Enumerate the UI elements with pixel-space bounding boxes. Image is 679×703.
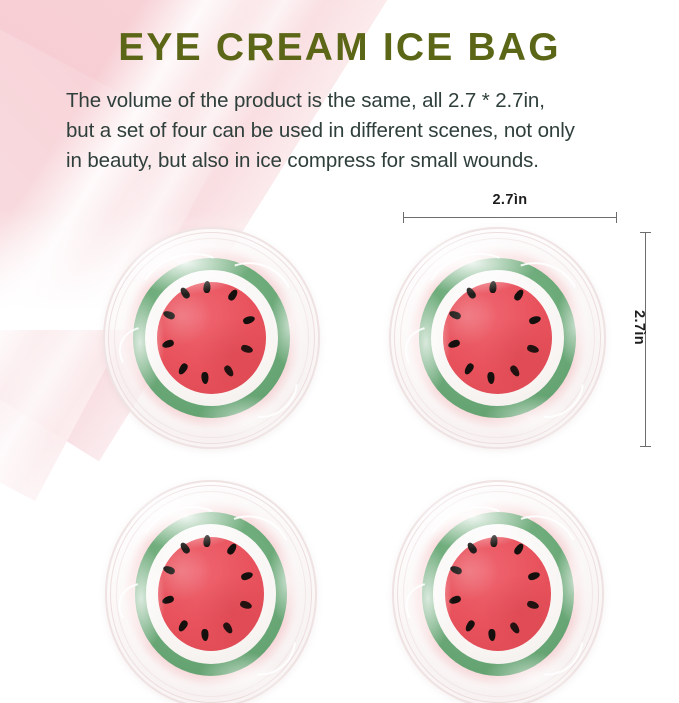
watermelon-seed [242, 315, 256, 325]
watermelon-seed [177, 619, 189, 633]
product-image-pack-bottom-left [105, 480, 317, 703]
watermelon-flesh [445, 537, 551, 651]
watermelon-seed [450, 564, 464, 575]
watermelon-seed [162, 309, 176, 320]
description-line-3: in beauty, but also in ice compress for … [66, 146, 646, 176]
watermelon-seed [526, 600, 540, 610]
watermelon-flesh [443, 282, 552, 393]
watermelon-pith [145, 270, 278, 406]
watermelon-seed [239, 600, 253, 610]
watermelon-seed [203, 535, 211, 547]
watermelon-rind [133, 258, 289, 418]
watermelon-seed [201, 629, 209, 641]
product-poster: EYE CREAM ICE BAG The volume of the prod… [0, 0, 679, 703]
watermelon-seed [466, 541, 479, 555]
watermelon-seed [464, 619, 476, 633]
watermelon-rind [419, 258, 575, 418]
page-title: EYE CREAM ICE BAG [0, 26, 679, 70]
watermelon-seed [487, 372, 495, 384]
watermelon-seed [240, 570, 254, 580]
height-dimension-label: 2.7ìn [631, 310, 647, 345]
watermelon-seed [448, 309, 462, 320]
watermelon-seed [203, 281, 211, 293]
watermelon-seed [223, 364, 236, 378]
watermelon-seed [509, 621, 522, 635]
watermelon-seed [527, 570, 541, 580]
watermelon-seed [513, 288, 526, 302]
product-image-pack-bottom-right [392, 480, 604, 703]
watermelon-seed [513, 542, 526, 556]
watermelon-pith [146, 524, 276, 664]
width-dimension-line [403, 217, 617, 218]
watermelon-pith [431, 270, 564, 406]
watermelon-seed [162, 594, 176, 605]
watermelon-seed [449, 594, 463, 605]
watermelon-seed [227, 288, 240, 302]
watermelon-seed [241, 344, 255, 354]
product-image-pack-top-left [103, 227, 320, 449]
watermelon-seed [528, 315, 542, 325]
watermelon-seed [465, 286, 478, 300]
watermelon-seed [463, 362, 475, 376]
watermelon-seed [222, 621, 235, 635]
watermelon-seed [201, 372, 209, 384]
watermelon-seed [509, 364, 522, 378]
watermelon-seed [179, 541, 192, 555]
watermelon-seed [489, 281, 497, 293]
watermelon-seed [226, 542, 239, 556]
watermelon-flesh [157, 282, 266, 393]
product-description: The volume of the product is the same, a… [66, 86, 646, 176]
description-line-1: The volume of the product is the same, a… [66, 86, 646, 116]
watermelon-seed [490, 535, 498, 547]
description-line-2: but a set of four can be used in differe… [66, 116, 646, 146]
watermelon-flesh [158, 537, 264, 651]
watermelon-rind [422, 512, 575, 676]
watermelon-seed [488, 629, 496, 641]
watermelon-seed [527, 344, 541, 354]
watermelon-pith [433, 524, 563, 664]
watermelon-rind [135, 512, 288, 676]
watermelon-seed [161, 338, 175, 349]
watermelon-seed [163, 564, 177, 575]
watermelon-seed [447, 338, 461, 349]
watermelon-seed [179, 286, 192, 300]
watermelon-seed [177, 362, 189, 376]
width-dimension-label: 2.7ìn [403, 192, 617, 208]
product-image-pack-top-right [389, 227, 606, 449]
